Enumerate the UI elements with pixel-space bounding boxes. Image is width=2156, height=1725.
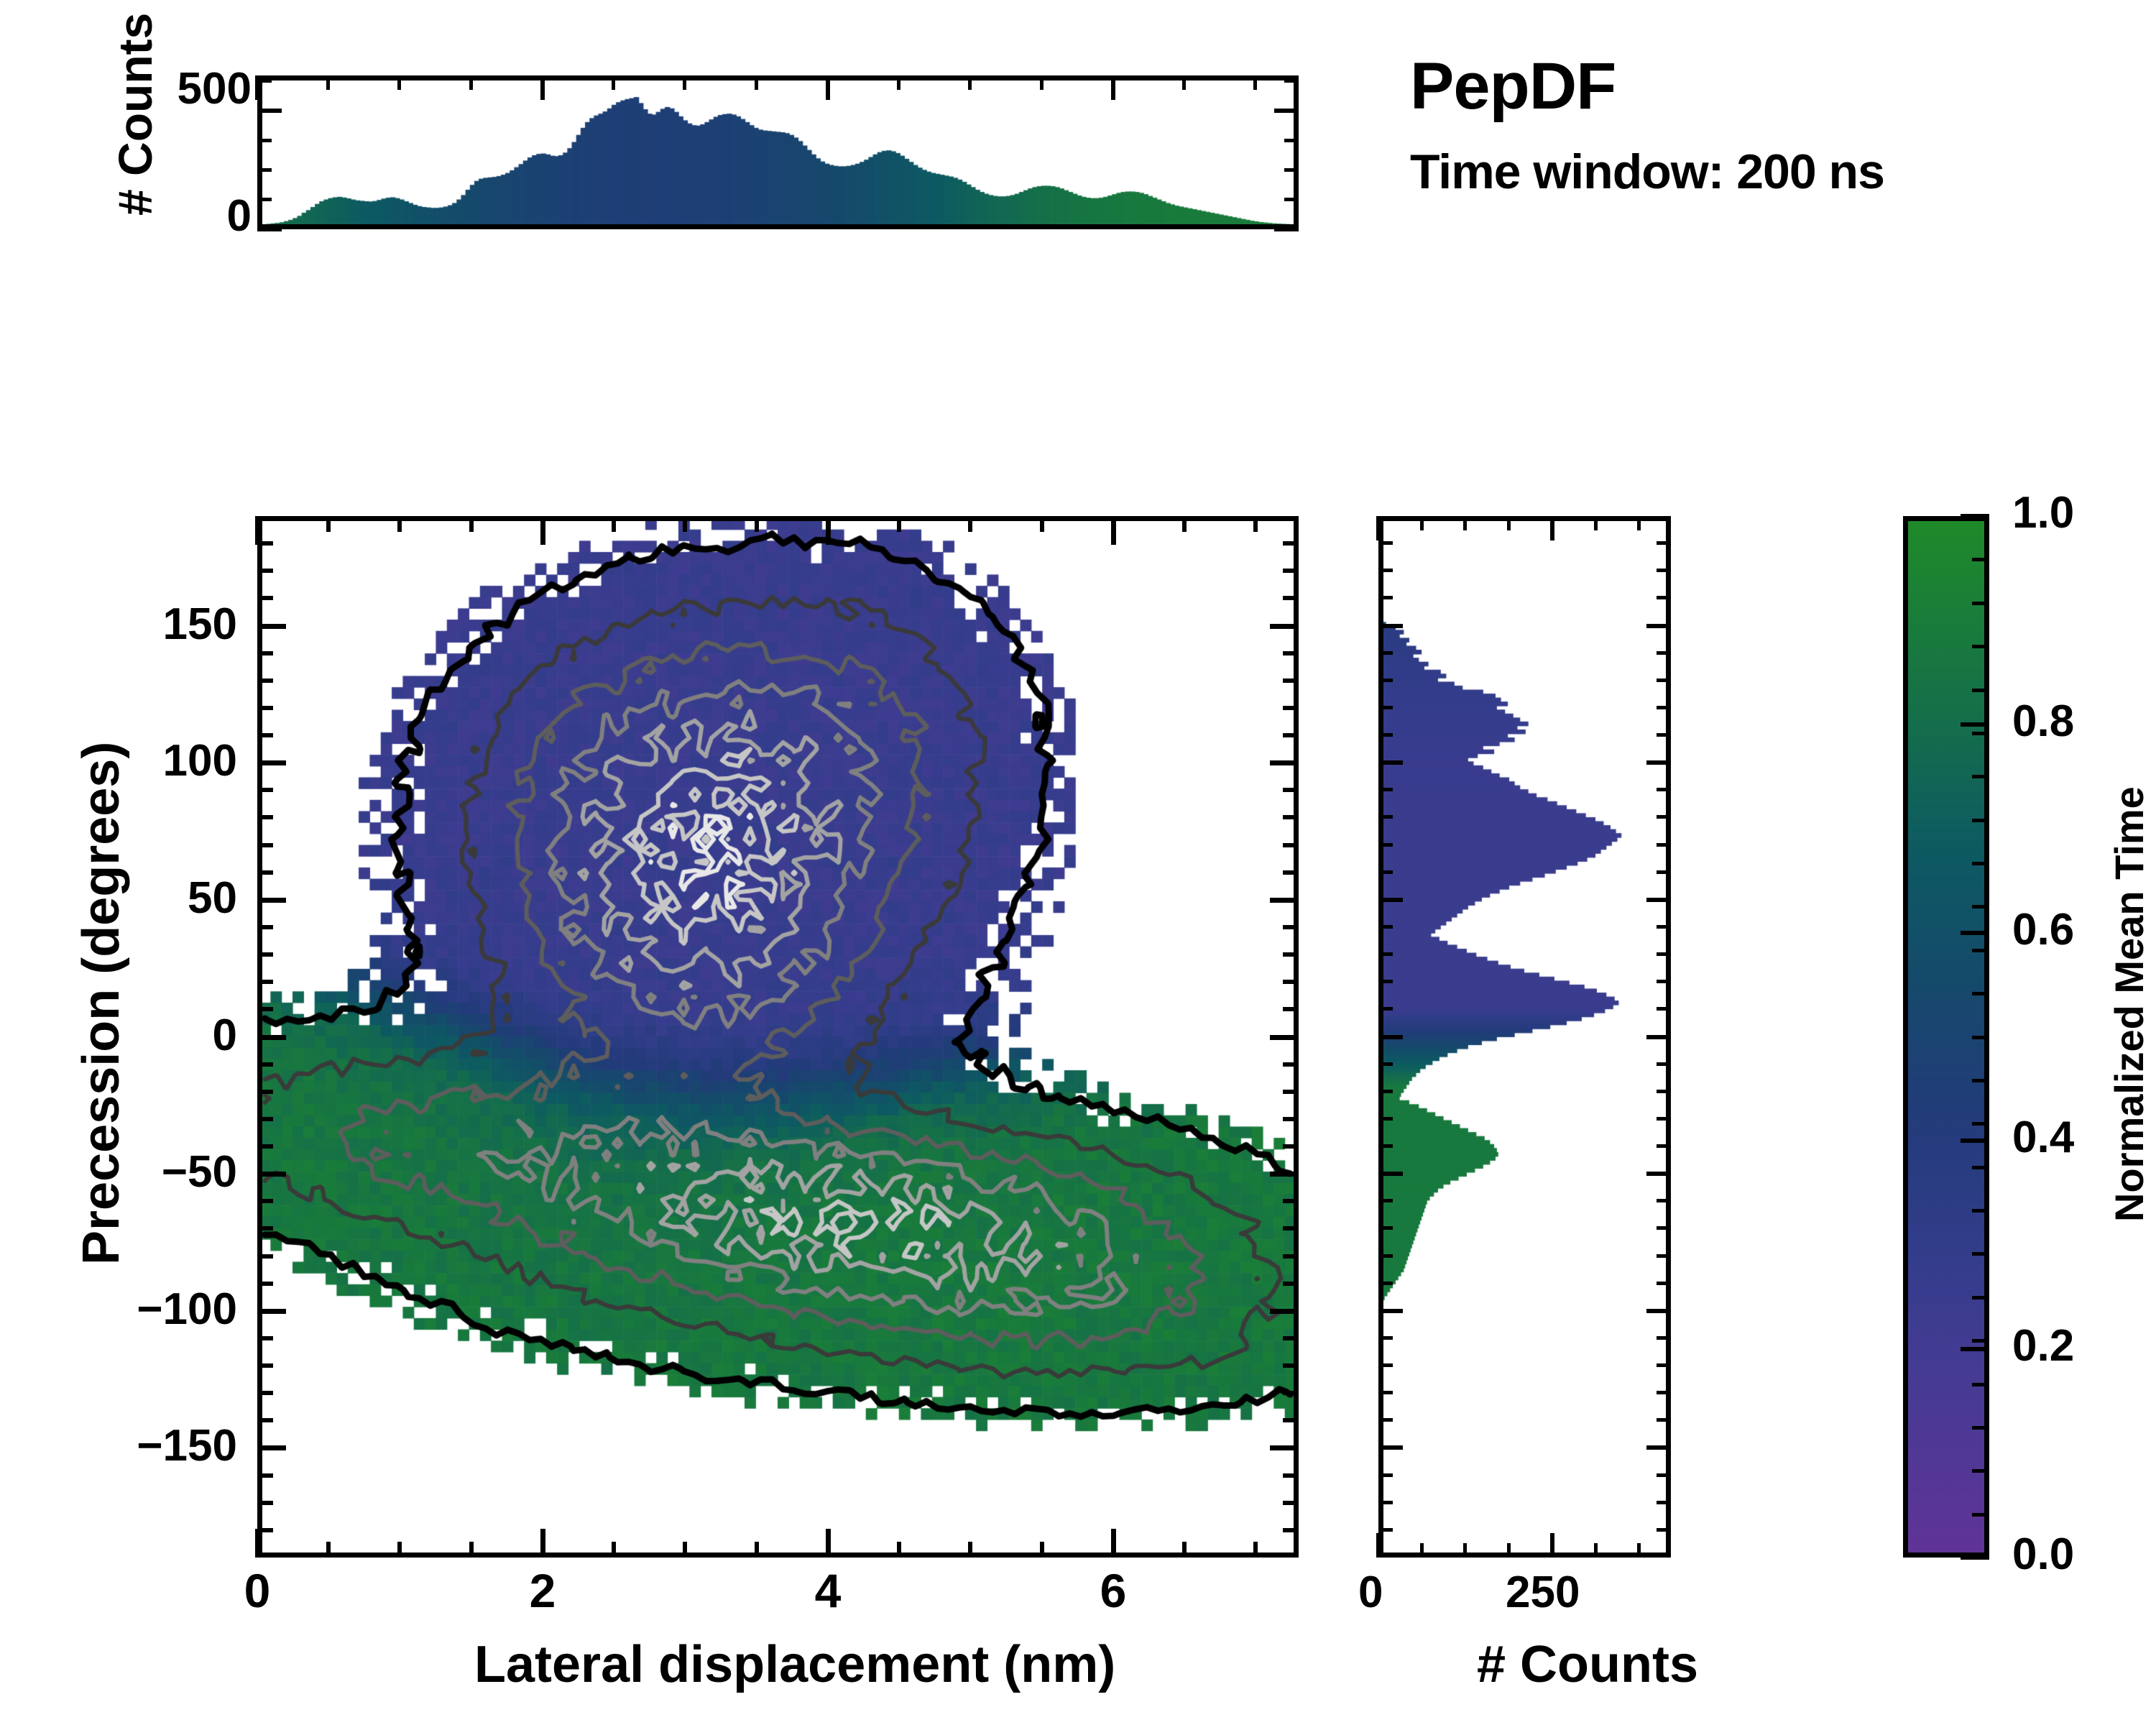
- tick-mark: [1657, 1418, 1671, 1422]
- tick-mark: [612, 1542, 616, 1558]
- tick-mark: [1972, 1252, 1989, 1256]
- tick-mark: [1972, 905, 1989, 908]
- tick-mark: [1283, 1226, 1299, 1230]
- tick-mark: [1646, 898, 1671, 902]
- tick-mark: [1283, 651, 1299, 655]
- tick-mark: [1378, 569, 1393, 572]
- tick-mark: [257, 596, 273, 600]
- tick-mark: [1270, 898, 1299, 903]
- tick-mark: [540, 1529, 545, 1558]
- tick-mark: [257, 1254, 273, 1259]
- top-histogram-frame: [257, 75, 1299, 229]
- tick-mark: [1657, 843, 1671, 847]
- tick-mark: [1283, 1117, 1299, 1121]
- main-xtick-label: 0: [214, 1563, 300, 1618]
- main-ytick-label: −100: [43, 1284, 237, 1335]
- tick-mark: [1657, 1090, 1671, 1093]
- colorbar-tick-label: 0.4: [2012, 1112, 2074, 1163]
- tick-mark: [1378, 1445, 1403, 1450]
- colorbar-tick-label: 0.6: [2012, 904, 2074, 955]
- tick-mark: [1378, 1473, 1393, 1477]
- tick-mark: [1420, 1543, 1424, 1558]
- tick-mark: [1657, 569, 1671, 572]
- tick-mark: [1657, 1282, 1671, 1285]
- tick-mark: [1378, 870, 1393, 874]
- tick-mark: [1657, 1062, 1671, 1066]
- tick-mark: [257, 624, 286, 629]
- tick-mark: [1283, 925, 1299, 929]
- tick-mark: [257, 1418, 273, 1422]
- tick-mark: [1378, 925, 1393, 929]
- tick-mark: [257, 1501, 273, 1505]
- tick-mark: [1961, 514, 1989, 518]
- tick-mark: [1182, 75, 1186, 90]
- tick-mark: [1111, 75, 1115, 100]
- tick-mark: [1657, 1528, 1671, 1532]
- tick-mark: [1378, 596, 1393, 599]
- colorbar-tick-label: 1.0: [2012, 487, 2074, 538]
- tick-mark: [755, 516, 759, 532]
- tick-mark: [1274, 227, 1299, 231]
- tick-mark: [1253, 75, 1257, 90]
- tick-mark: [1657, 1501, 1671, 1504]
- tick-mark: [1594, 516, 1598, 530]
- tick-mark: [1378, 1144, 1393, 1148]
- tick-mark: [1283, 569, 1299, 573]
- tick-mark: [1040, 75, 1044, 90]
- tick-mark: [1961, 1138, 1989, 1143]
- tick-mark: [1378, 541, 1393, 545]
- tick-mark: [1378, 1035, 1403, 1039]
- tick-mark: [683, 75, 686, 90]
- tick-mark: [1378, 1090, 1393, 1093]
- tick-mark: [1284, 79, 1299, 83]
- tick-mark: [1657, 1226, 1671, 1230]
- tick-mark: [1972, 602, 1989, 605]
- tick-mark: [326, 516, 331, 532]
- tick-mark: [1972, 1296, 1989, 1299]
- tick-mark: [257, 678, 273, 683]
- tick-mark: [968, 516, 972, 532]
- tick-mark: [1961, 931, 1989, 935]
- tick-mark: [1378, 1226, 1393, 1230]
- tick-mark: [1657, 788, 1671, 791]
- tick-mark: [1378, 788, 1393, 791]
- tick-mark: [257, 109, 282, 113]
- right-hist-xtick-250: 250: [1506, 1567, 1580, 1618]
- top-hist-ytick-0: 0: [208, 190, 252, 241]
- tick-mark: [1284, 198, 1299, 201]
- tick-mark: [1040, 1542, 1044, 1558]
- tick-mark: [1283, 678, 1299, 683]
- figure-root: PepDF Time window: 200 ns 0 500 # Counts…: [0, 0, 2156, 1725]
- tick-mark: [1283, 1528, 1299, 1532]
- tick-mark: [612, 75, 615, 90]
- tick-mark: [257, 1336, 273, 1340]
- tick-mark: [1972, 949, 1989, 952]
- tick-mark: [1657, 1336, 1671, 1340]
- tick-mark: [257, 198, 272, 201]
- tick-mark: [1270, 760, 1299, 765]
- tick-mark: [897, 75, 900, 90]
- tick-mark: [1378, 1418, 1393, 1422]
- tick-mark: [1972, 1036, 1989, 1039]
- tick-mark: [1972, 732, 1989, 735]
- tick-mark: [257, 1309, 286, 1314]
- tick-mark: [255, 516, 260, 545]
- main-ylabel: Precession (degrees): [72, 742, 131, 1265]
- tick-mark: [257, 79, 272, 83]
- tick-mark: [1283, 733, 1299, 737]
- tick-mark: [257, 1117, 273, 1121]
- tick-mark: [1283, 1501, 1299, 1505]
- figure-title: PepDF: [1410, 49, 1616, 124]
- tick-mark: [257, 569, 273, 573]
- tick-mark: [1270, 1309, 1299, 1314]
- tick-mark: [1657, 1007, 1671, 1011]
- tick-mark: [1972, 1339, 1989, 1343]
- tick-mark: [257, 1282, 273, 1286]
- tick-mark: [1283, 980, 1299, 984]
- tick-mark: [1283, 1336, 1299, 1340]
- tick-mark: [469, 516, 474, 532]
- tick-mark: [1972, 862, 1989, 865]
- tick-mark: [397, 75, 401, 90]
- main-xtick-label: 6: [1070, 1563, 1156, 1618]
- tick-mark: [1378, 1172, 1403, 1176]
- colorbar-tick-label: 0.2: [2012, 1320, 2074, 1371]
- tick-mark: [1507, 1543, 1511, 1558]
- tick-mark: [1378, 952, 1393, 956]
- tick-mark: [968, 75, 972, 90]
- tick-mark: [257, 980, 273, 984]
- tick-mark: [1376, 1533, 1381, 1558]
- tick-mark: [1378, 1501, 1393, 1504]
- tick-mark: [1182, 516, 1187, 532]
- tick-mark: [1378, 1528, 1393, 1532]
- tick-mark: [1270, 1035, 1299, 1040]
- tick-mark: [897, 1542, 901, 1558]
- tick-mark: [257, 788, 273, 792]
- tick-mark: [1657, 651, 1671, 655]
- tick-mark: [1657, 733, 1671, 737]
- tick-mark: [1646, 1445, 1671, 1450]
- tick-mark: [1111, 1529, 1116, 1558]
- tick-mark: [1972, 1122, 1989, 1126]
- tick-mark: [1972, 1469, 1989, 1473]
- tick-mark: [1657, 541, 1671, 545]
- tick-mark: [1657, 678, 1671, 682]
- tick-mark: [257, 1090, 273, 1094]
- tick-mark: [1378, 733, 1393, 737]
- tick-mark: [1283, 788, 1299, 792]
- tick-mark: [1111, 516, 1116, 545]
- tick-mark: [397, 516, 402, 532]
- tick-mark: [1283, 1418, 1299, 1422]
- tick-mark: [257, 168, 272, 172]
- tick-mark: [397, 1542, 402, 1558]
- tick-mark: [1283, 1391, 1299, 1395]
- tick-mark: [257, 1007, 273, 1011]
- tick-mark: [1376, 516, 1381, 540]
- tick-mark: [1283, 1199, 1299, 1203]
- tick-mark: [1283, 596, 1299, 600]
- tick-mark: [1378, 1254, 1393, 1258]
- tick-mark: [1378, 1117, 1393, 1121]
- tick-mark: [1657, 815, 1671, 819]
- tick-mark: [1972, 1079, 1989, 1082]
- tick-mark: [1378, 760, 1403, 765]
- tick-mark: [257, 227, 282, 231]
- tick-mark: [897, 516, 901, 532]
- tick-mark: [1378, 815, 1393, 819]
- tick-mark: [1972, 1166, 1989, 1169]
- tick-mark: [1270, 624, 1299, 629]
- colorbar-tick-label: 0.0: [2012, 1529, 2074, 1580]
- tick-mark: [257, 760, 286, 765]
- tick-mark: [1972, 1383, 1989, 1386]
- tick-mark: [257, 1199, 273, 1203]
- tick-mark: [257, 1035, 286, 1040]
- tick-mark: [1972, 689, 1989, 692]
- tick-mark: [257, 1144, 273, 1149]
- tick-mark: [257, 925, 273, 929]
- tick-mark: [1378, 1199, 1393, 1202]
- tick-mark: [326, 1542, 331, 1558]
- tick-mark: [968, 1542, 972, 1558]
- tick-mark: [1972, 819, 1989, 822]
- tick-mark: [1283, 843, 1299, 847]
- tick-mark: [1283, 1363, 1299, 1368]
- tick-mark: [1283, 1282, 1299, 1286]
- main-ytick-label: 150: [43, 599, 237, 650]
- tick-mark: [1972, 1513, 1989, 1517]
- tick-mark: [1378, 678, 1393, 682]
- tick-mark: [1657, 1473, 1671, 1477]
- tick-mark: [1594, 1543, 1598, 1558]
- main-ytick-label: −150: [43, 1420, 237, 1471]
- tick-mark: [540, 516, 545, 545]
- tick-mark: [1463, 516, 1467, 530]
- tick-mark: [1646, 1172, 1671, 1176]
- tick-mark: [1646, 624, 1671, 628]
- tick-mark: [257, 843, 273, 847]
- tick-mark: [257, 1528, 273, 1532]
- tick-mark: [826, 516, 831, 545]
- tick-mark: [1378, 1309, 1403, 1313]
- tick-mark: [1378, 1363, 1393, 1367]
- tick-mark: [1283, 1007, 1299, 1011]
- tick-mark: [469, 1542, 474, 1558]
- tick-mark: [257, 1172, 286, 1177]
- tick-mark: [1657, 1391, 1671, 1394]
- right-hist-xlabel: # Counts: [1477, 1635, 1698, 1694]
- tick-mark: [1972, 992, 1989, 995]
- top-hist-ylabel: # Counts: [108, 13, 162, 216]
- tick-mark: [1961, 1555, 1989, 1560]
- tick-mark: [1657, 1363, 1671, 1367]
- tick-mark: [1378, 1282, 1393, 1285]
- colorbar-tick-label: 0.8: [2012, 696, 2074, 747]
- tick-mark: [1253, 1542, 1258, 1558]
- tick-mark: [826, 1529, 831, 1558]
- tick-mark: [469, 75, 473, 90]
- tick-mark: [1378, 1336, 1393, 1340]
- tick-mark: [1378, 843, 1393, 847]
- tick-mark: [1972, 775, 1989, 778]
- tick-mark: [1657, 1254, 1671, 1258]
- tick-mark: [1637, 516, 1641, 530]
- tick-mark: [1253, 516, 1258, 532]
- tick-mark: [1378, 706, 1393, 709]
- tick-mark: [257, 1473, 273, 1478]
- tick-mark: [1378, 651, 1393, 655]
- tick-mark: [257, 706, 273, 710]
- tick-mark: [1972, 645, 1989, 648]
- tick-mark: [1657, 1199, 1671, 1202]
- tick-mark: [1420, 516, 1424, 530]
- tick-mark: [1637, 1543, 1641, 1558]
- tick-mark: [1283, 706, 1299, 710]
- tick-mark: [1961, 722, 1989, 727]
- main-xlabel: Lateral displacement (nm): [474, 1635, 1115, 1694]
- tick-mark: [1646, 1309, 1671, 1313]
- tick-mark: [1657, 1144, 1671, 1148]
- tick-mark: [1378, 898, 1403, 902]
- tick-mark: [257, 541, 273, 546]
- tick-mark: [1283, 1254, 1299, 1259]
- tick-mark: [257, 1391, 273, 1395]
- figure-subtitle: Time window: 200 ns: [1410, 144, 1884, 200]
- tick-mark: [612, 516, 616, 532]
- right-hist-xtick-0: 0: [1358, 1567, 1383, 1618]
- tick-mark: [1283, 870, 1299, 875]
- tick-mark: [1182, 1542, 1187, 1558]
- tick-mark: [1463, 1543, 1467, 1558]
- tick-mark: [826, 75, 830, 100]
- tick-mark: [1657, 952, 1671, 956]
- tick-mark: [540, 75, 545, 100]
- tick-mark: [257, 1062, 273, 1067]
- tick-mark: [257, 1363, 273, 1368]
- tick-mark: [1657, 980, 1671, 983]
- tick-mark: [683, 1542, 687, 1558]
- tick-mark: [257, 898, 286, 903]
- tick-mark: [1646, 1035, 1671, 1039]
- tick-mark: [1274, 109, 1299, 113]
- tick-mark: [257, 815, 273, 819]
- tick-mark: [257, 870, 273, 875]
- tick-mark: [1961, 1347, 1989, 1351]
- tick-mark: [1657, 706, 1671, 709]
- tick-mark: [1646, 760, 1671, 765]
- tick-mark: [257, 651, 273, 655]
- tick-mark: [1283, 815, 1299, 819]
- tick-mark: [1040, 516, 1044, 532]
- tick-mark: [1507, 516, 1511, 530]
- tick-mark: [1283, 1062, 1299, 1067]
- tick-mark: [1972, 1426, 1989, 1430]
- tick-mark: [1378, 1391, 1393, 1394]
- tick-mark: [1378, 1062, 1393, 1066]
- tick-mark: [1283, 952, 1299, 957]
- tick-mark: [257, 952, 273, 957]
- tick-mark: [1657, 596, 1671, 599]
- main-xtick-label: 2: [499, 1563, 586, 1618]
- main-plot-frame: [257, 516, 1299, 1558]
- tick-mark: [683, 516, 687, 532]
- tick-mark: [1283, 1473, 1299, 1478]
- tick-mark: [1378, 624, 1403, 628]
- main-xtick-label: 4: [785, 1563, 871, 1618]
- tick-mark: [755, 75, 758, 90]
- right-histogram-frame: [1378, 516, 1671, 1558]
- tick-mark: [1270, 1172, 1299, 1177]
- tick-mark: [257, 139, 272, 142]
- tick-mark: [1284, 168, 1299, 172]
- tick-mark: [1550, 1533, 1554, 1558]
- tick-mark: [1270, 1445, 1299, 1450]
- tick-mark: [255, 1529, 260, 1558]
- tick-mark: [1283, 1090, 1299, 1094]
- tick-mark: [1972, 558, 1989, 561]
- colorbar-label: Normalized Mean Time: [2106, 786, 2152, 1222]
- tick-mark: [257, 1226, 273, 1230]
- tick-mark: [1283, 1144, 1299, 1149]
- tick-mark: [1283, 541, 1299, 546]
- tick-mark: [1657, 1117, 1671, 1121]
- tick-mark: [326, 75, 330, 90]
- tick-mark: [1378, 1007, 1393, 1011]
- tick-mark: [1284, 139, 1299, 142]
- tick-mark: [755, 1542, 759, 1558]
- tick-mark: [1378, 980, 1393, 983]
- tick-mark: [1550, 516, 1554, 540]
- tick-mark: [257, 733, 273, 737]
- tick-mark: [1657, 870, 1671, 874]
- tick-mark: [257, 1445, 286, 1450]
- tick-mark: [1657, 925, 1671, 929]
- tick-mark: [1972, 1209, 1989, 1213]
